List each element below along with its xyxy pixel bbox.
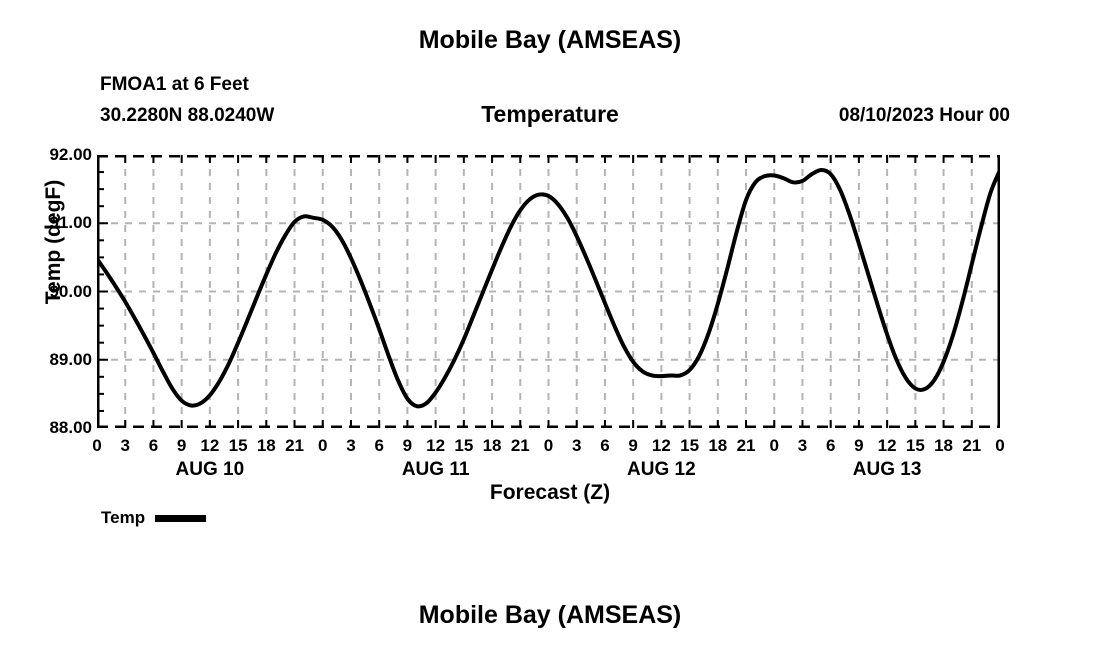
y-tick-label: 91.00 [12,213,92,233]
x-tick-label: 6 [826,436,835,456]
page-title-bottom: Mobile Bay (AMSEAS) [0,601,1100,630]
legend-line-swatch [155,515,206,522]
model-run-stamp: 08/10/2023 Hour 00 [839,105,1010,127]
x-tick-label: 6 [149,436,158,456]
chart-page: Mobile Bay (AMSEAS) FMOA1 at 6 Feet 30.2… [0,0,1100,650]
x-tick-label: 15 [906,436,925,456]
x-axis-day-label: AUG 13 [853,459,922,481]
x-tick-label: 9 [854,436,863,456]
x-tick-label: 15 [680,436,699,456]
x-tick-label: 12 [200,436,219,456]
x-tick-label: 0 [318,436,327,456]
legend-label: Temp [101,508,145,528]
x-axis-label: Forecast (Z) [0,481,1100,505]
x-axis-day-label: AUG 12 [627,459,696,481]
x-tick-label: 9 [403,436,412,456]
x-axis-day-label: AUG 11 [402,459,470,481]
station-label: FMOA1 at 6 Feet [100,74,249,96]
y-tick-label: 90.00 [12,282,92,302]
x-tick-label: 3 [346,436,355,456]
x-tick-label: 3 [120,436,129,456]
x-tick-label: 0 [92,436,101,456]
x-tick-label: 21 [511,436,530,456]
x-tick-label: 9 [177,436,186,456]
x-axis-day-label: AUG 10 [176,459,245,481]
x-tick-label: 3 [572,436,581,456]
x-tick-label: 18 [257,436,276,456]
x-tick-label: 18 [708,436,727,456]
x-tick-label: 18 [483,436,502,456]
plot-area [97,155,1000,428]
page-title-top: Mobile Bay (AMSEAS) [0,26,1100,55]
y-axis-tick-labels: 92.0091.0090.0089.0088.00 [0,0,92,650]
chart-canvas [97,155,1000,428]
x-tick-label: 21 [962,436,981,456]
x-tick-label: 0 [544,436,553,456]
x-tick-label: 21 [737,436,756,456]
x-tick-label: 0 [995,436,1004,456]
legend: Temp [101,508,206,528]
x-tick-label: 21 [285,436,304,456]
x-tick-label: 12 [652,436,671,456]
x-tick-label: 18 [934,436,953,456]
x-tick-label: 15 [229,436,248,456]
y-tick-label: 89.00 [12,350,92,370]
x-tick-label: 15 [454,436,473,456]
x-tick-label: 9 [628,436,637,456]
x-tick-label: 12 [426,436,445,456]
x-tick-label: 0 [770,436,779,456]
x-tick-label: 3 [798,436,807,456]
x-tick-label: 12 [878,436,897,456]
y-tick-label: 88.00 [12,418,92,438]
y-tick-label: 92.00 [12,145,92,165]
x-tick-label: 6 [374,436,383,456]
x-tick-label: 6 [600,436,609,456]
